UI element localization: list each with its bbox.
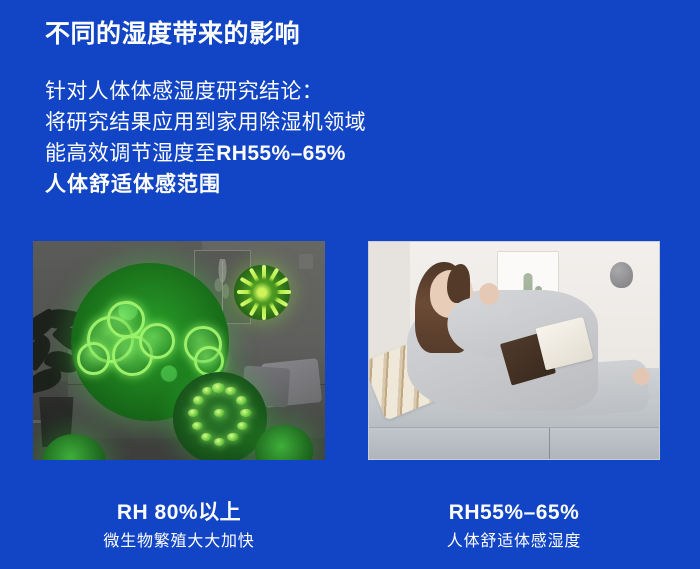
microbe-pore [201, 433, 212, 441]
microbe-pore [214, 409, 224, 417]
microbe-pore [188, 409, 199, 417]
microbe-pore [236, 396, 247, 404]
body-copy-line-3: 能高效调节湿度至RH55%–65% [45, 138, 366, 169]
caption-comfort-humidity: RH55%–65% 人体舒适体感湿度 [368, 500, 660, 554]
caption-comfort-humidity-sub: 人体舒适体感湿度 [368, 530, 660, 554]
body-copy-line-2: 将研究结果应用到家用除湿机领域 [45, 107, 366, 138]
body-copy-line-3-plain: 能高效调节湿度至 [45, 142, 216, 165]
caption-high-humidity-sub: 微生物繁殖大大加快 [33, 530, 325, 554]
wall-switch [299, 254, 314, 269]
sofa-seat [369, 427, 659, 459]
caption-comfort-humidity-main: RH55%–65% [368, 500, 660, 526]
microbe-pore [192, 422, 203, 430]
body-copy-line-3-range: RH55%–65% [216, 142, 346, 165]
microbe-virus-spiky [234, 265, 289, 320]
body-copy-line-1: 针对人体体感湿度研究结论： [45, 76, 366, 107]
humidity-infographic-page: 不同的湿度带来的影响 针对人体体感湿度研究结论： 将研究结果应用到家用除湿机领域… [0, 0, 700, 569]
caption-high-humidity-main: RH 80%以上 [33, 500, 325, 526]
caption-high-humidity: RH 80%以上 微生物繁殖大大加快 [33, 500, 325, 554]
microbe-pore [237, 422, 248, 430]
body-copy: 针对人体体感湿度研究结论： 将研究结果应用到家用除湿机领域 能高效调节湿度至RH… [45, 76, 366, 200]
page-title: 不同的湿度带来的影响 [45, 17, 300, 51]
panel-high-humidity-image [33, 241, 325, 460]
microbe-pore [240, 409, 251, 417]
panel-comfort-humidity-image [368, 241, 660, 460]
microbe-pore [225, 387, 236, 395]
microbe-pore [202, 387, 213, 395]
plant-leaf [33, 366, 64, 393]
microbe-cell [77, 342, 110, 375]
person-hair-front [447, 264, 470, 303]
microbe-pore [214, 438, 225, 446]
microbe-pored-sphere [173, 372, 266, 460]
microbe-pore [193, 396, 204, 404]
sofa-seam [549, 428, 550, 459]
microbe-pore [212, 383, 224, 392]
microbe-pore [227, 433, 238, 441]
wall-speaker [610, 262, 633, 288]
microbe-cell [107, 301, 145, 339]
microbe-cell [139, 323, 175, 359]
body-copy-line-4: 人体舒适体感范围 [45, 169, 366, 200]
